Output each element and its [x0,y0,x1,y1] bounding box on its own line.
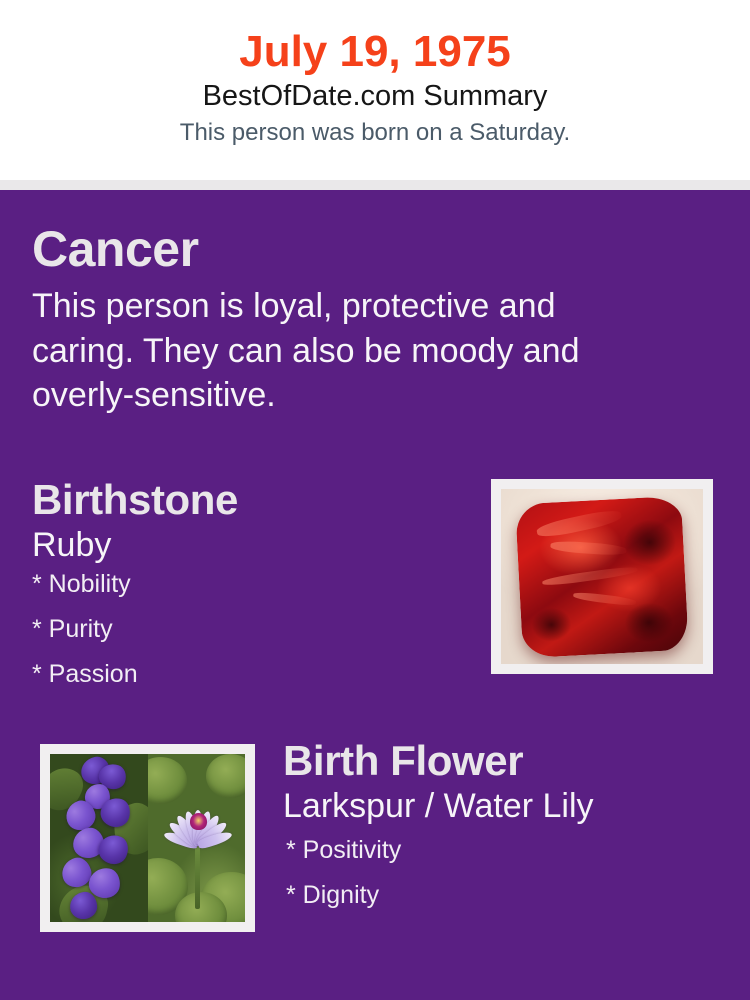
larkspur-image [50,754,148,922]
water-lily-bloom [173,791,224,848]
birth-flower-name: Larkspur / Water Lily [283,786,723,826]
birth-flower-section: Birth Flower Larkspur / Water Lily * Pos… [283,738,723,928]
birth-flower-images [50,754,245,922]
birth-day-note: This person was born on a Saturday. [0,119,750,147]
lily-stamen-center [190,813,207,830]
page-title-date: July 19, 1975 [0,27,750,76]
birth-flower-heading: Birth Flower [283,738,723,784]
birthstone-image-frame [491,479,713,674]
birthstone-heading: Birthstone [32,477,452,523]
water-lily-image [148,754,246,922]
birthstone-trait-list: * Nobility * Purity * Passion [32,572,452,687]
zodiac-description: This person is loyal, protective and car… [32,284,652,418]
zodiac-section: Cancer This person is loyal, protective … [32,222,652,418]
ruby-stone-shape [515,495,688,657]
list-item: * Passion [32,662,452,687]
ruby-crystal-image [501,489,703,664]
ruby-shadow [622,517,677,566]
ruby-shadow [531,606,572,642]
ruby-shadow [623,601,675,644]
list-item: * Nobility [32,572,452,597]
site-name: BestOfDate.com Summary [0,80,750,113]
ruby-facet [550,539,627,555]
main-panel: Cancer This person is loyal, protective … [0,190,750,1000]
zodiac-sign-name: Cancer [32,222,652,276]
ruby-facet [536,507,623,540]
summary-card: July 19, 1975 BestOfDate.com Summary Thi… [0,0,750,1000]
list-item: * Positivity [286,838,723,863]
list-item: * Purity [32,617,452,642]
header-divider [0,180,750,190]
header: July 19, 1975 BestOfDate.com Summary Thi… [0,0,750,180]
birthstone-section: Birthstone Ruby * Nobility * Purity * Pa… [32,477,452,707]
birth-flower-image-frame [40,744,255,932]
list-item: * Dignity [286,883,723,908]
lily-stem [195,841,200,908]
birthstone-name: Ruby [32,525,452,565]
birth-flower-trait-list: * Positivity * Dignity [283,838,723,908]
ruby-facet [542,564,638,587]
